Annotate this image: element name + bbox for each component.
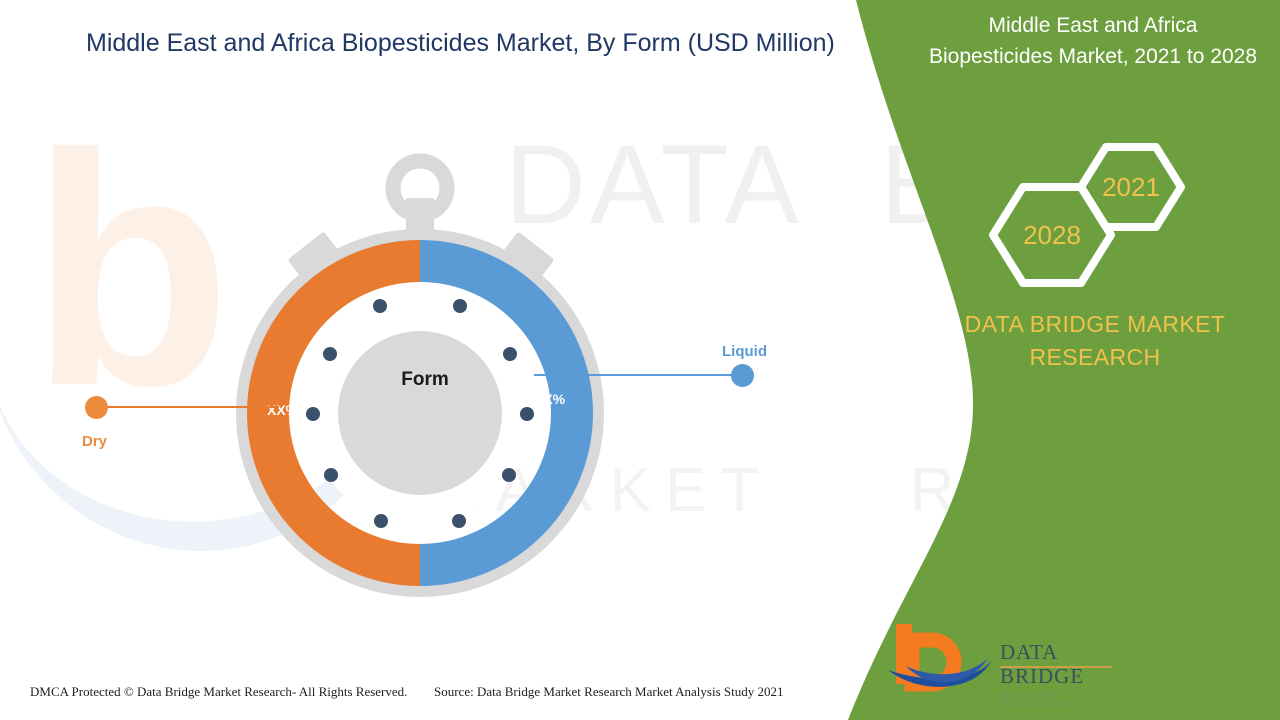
year-hexagons: 2028 2021 — [975, 135, 1205, 300]
brand-panel-title-line2: Biopesticides Market, 2021 to 2028 — [918, 41, 1268, 72]
logo-name-line1: DATA BRIDGE — [1000, 640, 1120, 688]
brand-panel-name: DATA BRIDGE MARKET RESEARCH — [920, 308, 1270, 374]
brand-name-line1: DATA BRIDGE MARKET — [920, 308, 1270, 341]
footer-copyright: DMCA Protected © Data Bridge Market Rese… — [30, 684, 407, 700]
hexagon-2021-label: 2021 — [1102, 172, 1160, 202]
footer: DMCA Protected © Data Bridge Market Rese… — [0, 684, 1280, 708]
infographic-canvas: b DATA BRIDGE MARKET RESEARCH Middle Eas… — [0, 0, 1280, 720]
footer-source: Source: Data Bridge Market Research Mark… — [434, 684, 783, 700]
brand-name-line2: RESEARCH — [920, 341, 1270, 374]
brand-panel-title: Middle East and Africa Biopesticides Mar… — [918, 10, 1268, 72]
hexagon-2028-label: 2028 — [1023, 220, 1081, 250]
logo-divider — [1000, 666, 1112, 668]
brand-panel-title-line1: Middle East and Africa — [918, 10, 1268, 41]
